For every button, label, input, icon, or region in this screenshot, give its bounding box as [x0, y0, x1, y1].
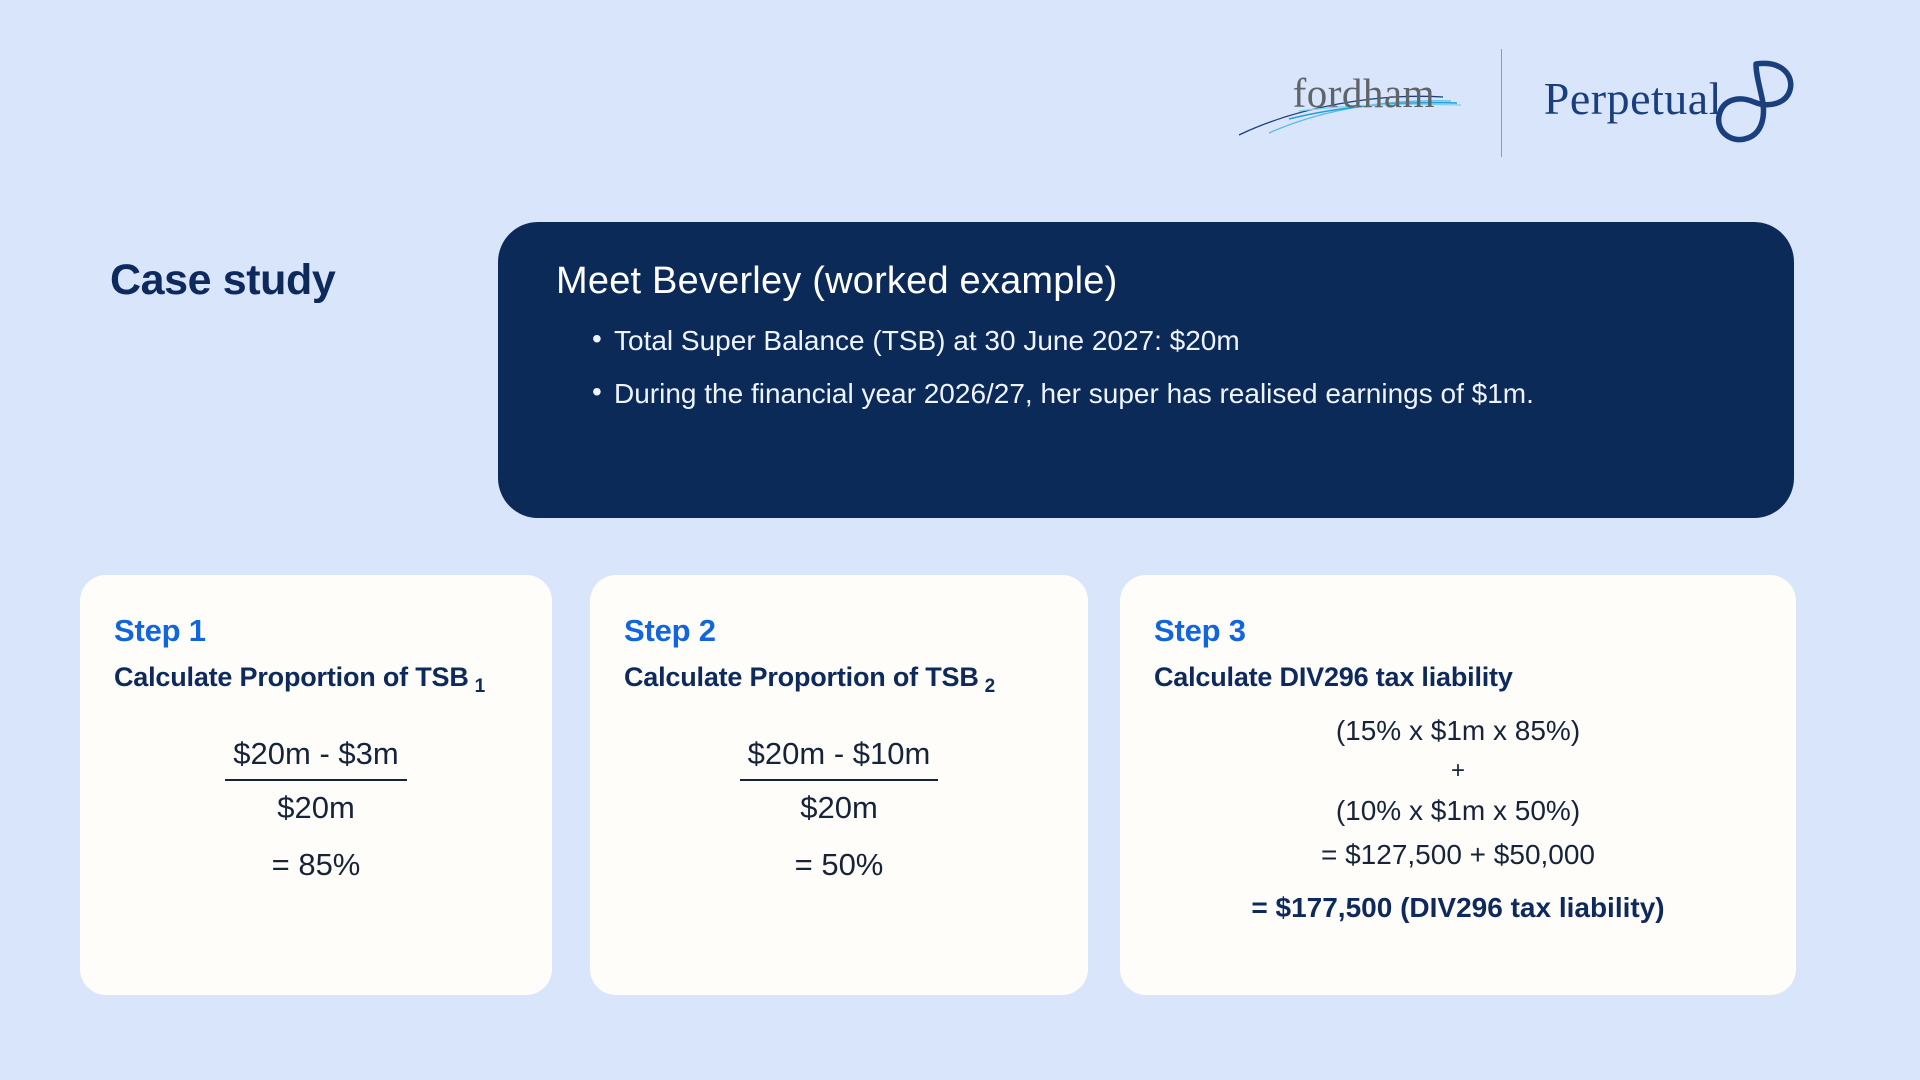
fordham-wordmark: fordham	[1293, 73, 1435, 114]
step-title: Calculate DIV296 tax liability	[1154, 661, 1762, 695]
fraction: $20m - $3m $20m	[225, 733, 406, 831]
fordham-logo: fordham	[1269, 67, 1459, 139]
list-item: Total Super Balance (TSB) at 30 June 202…	[592, 323, 1592, 360]
fraction-numerator: $20m - $3m	[225, 733, 406, 779]
brand-logo-bar: fordham Perpetual	[1269, 48, 1796, 158]
step-title: Calculate Proportion of TSB1	[114, 661, 518, 699]
step-label: Step 3	[1154, 613, 1762, 649]
step-math: $20m - $10m $20m = 50%	[624, 733, 1054, 883]
callout-heading: Meet Beverley (worked example)	[556, 260, 1736, 303]
step-result: = 50%	[624, 847, 1054, 883]
step-title-subscript: 1	[469, 676, 485, 697]
step-title-text: Calculate Proportion of TSB	[624, 662, 979, 692]
step-math: $20m - $3m $20m = 85%	[114, 733, 518, 883]
perpetual-wordmark: Perpetual	[1544, 76, 1722, 122]
calc-line: (10% x $1m x 50%)	[1154, 789, 1762, 832]
step-title-subscript: 2	[979, 676, 995, 697]
calc-line: = $127,500 + $50,000	[1154, 833, 1762, 876]
step-title-text: Calculate Proportion of TSB	[114, 662, 469, 692]
fraction-denominator: $20m	[740, 781, 939, 832]
perpetual-logo: Perpetual	[1544, 58, 1796, 148]
perpetual-infinity-p-icon	[1712, 58, 1796, 148]
page-title: Case study	[110, 256, 335, 305]
case-study-callout: Meet Beverley (worked example) Total Sup…	[498, 222, 1794, 518]
step-label: Step 1	[114, 613, 518, 649]
step-card-3: Step 3 Calculate DIV296 tax liability (1…	[1120, 575, 1796, 995]
step-total: = $177,500 (DIV296 tax liability)	[1154, 886, 1762, 929]
list-item: During the financial year 2026/27, her s…	[592, 376, 1592, 413]
step-card-1: Step 1 Calculate Proportion of TSB1 $20m…	[80, 575, 552, 995]
step-label: Step 2	[624, 613, 1054, 649]
calc-line: +	[1154, 752, 1762, 789]
fraction-denominator: $20m	[225, 781, 406, 832]
logo-divider	[1501, 49, 1502, 157]
step-result: = 85%	[114, 847, 518, 883]
calc-line: (15% x $1m x 85%)	[1154, 709, 1762, 752]
step-title: Calculate Proportion of TSB2	[624, 661, 1054, 699]
fraction-numerator: $20m - $10m	[740, 733, 939, 779]
fraction: $20m - $10m $20m	[740, 733, 939, 831]
step-card-2: Step 2 Calculate Proportion of TSB2 $20m…	[590, 575, 1088, 995]
callout-bullet-list: Total Super Balance (TSB) at 30 June 202…	[556, 323, 1736, 413]
step-math: (15% x $1m x 85%) + (10% x $1m x 50%) = …	[1154, 709, 1762, 930]
